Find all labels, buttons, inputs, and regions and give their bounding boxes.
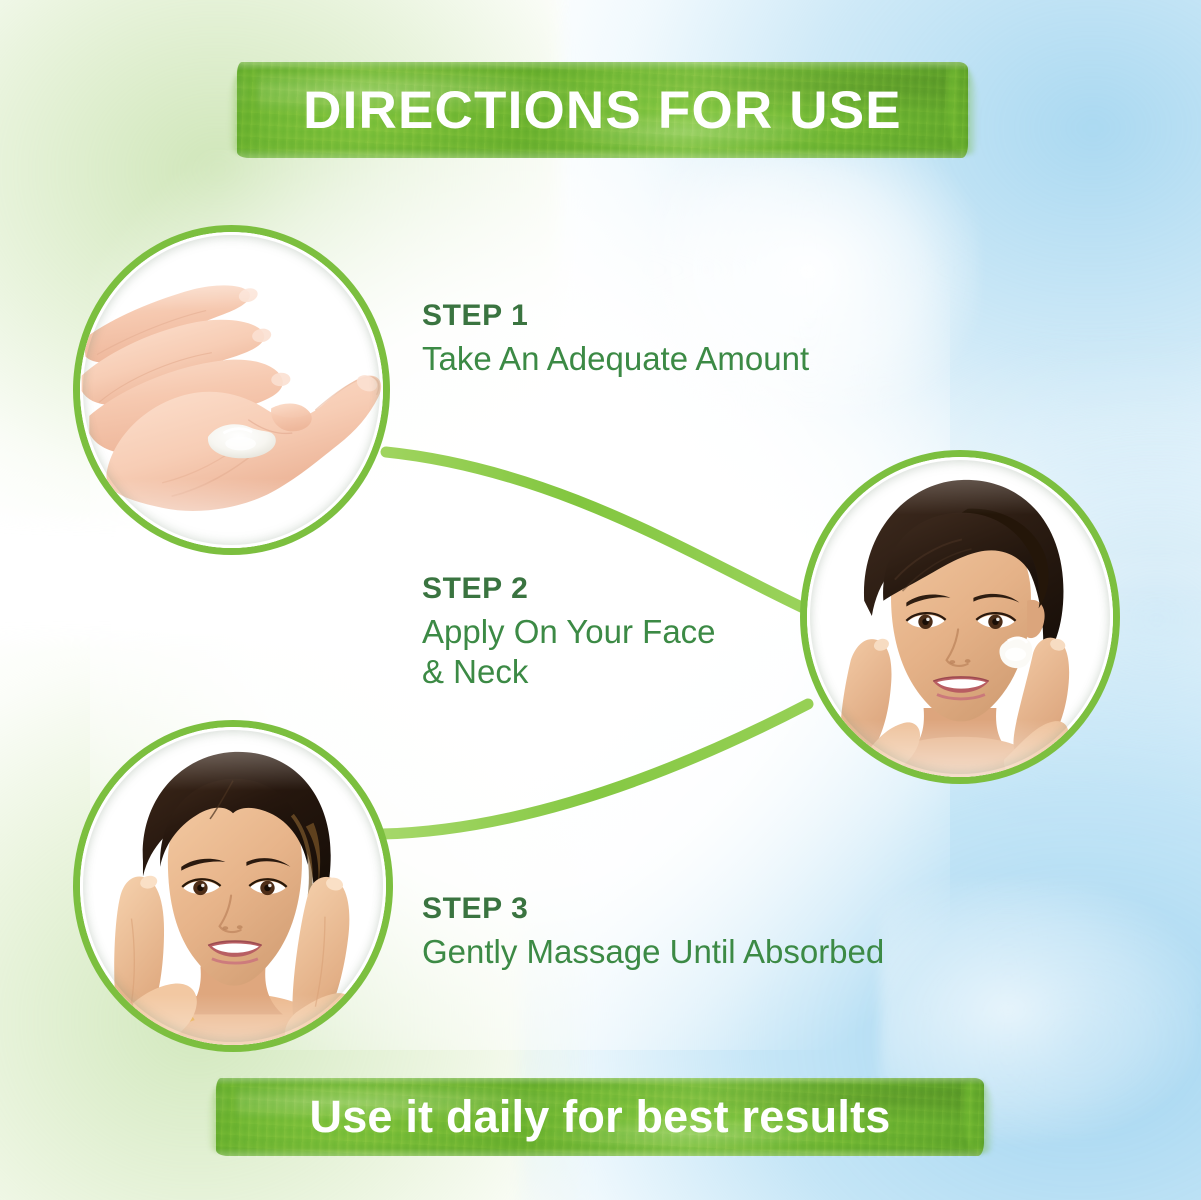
step-2-text-block: STEP 2 Apply On Your Face & Neck (422, 572, 716, 693)
connector-step2-to-step3 (382, 704, 808, 834)
step-1-text-block: STEP 1 Take An Adequate Amount (422, 299, 809, 379)
step-2-photo-circle (800, 450, 1120, 784)
step-3-text-block: STEP 3 Gently Massage Until Absorbed (422, 892, 884, 972)
directions-for-use-infographic: DIRECTIONS FOR USE (0, 0, 1201, 1200)
page-title: DIRECTIONS FOR USE (303, 80, 902, 141)
step-2-description: Apply On Your Face & Neck (422, 612, 716, 694)
step-3-description: Gently Massage Until Absorbed (422, 932, 884, 973)
step-1-photo-circle (73, 225, 390, 555)
footer-banner: Use it daily for best results (216, 1078, 984, 1156)
hand-with-cream-image (80, 232, 383, 548)
step-1-description: Take An Adequate Amount (422, 339, 809, 380)
woman-massaging-face-image (80, 727, 386, 1045)
woman-applying-cream-image (807, 457, 1113, 777)
step-1-kicker: STEP 1 (422, 299, 809, 334)
step-2-kicker: STEP 2 (422, 572, 716, 607)
title-banner: DIRECTIONS FOR USE (237, 62, 968, 158)
step-3-photo-circle (73, 720, 393, 1052)
footer-note: Use it daily for best results (310, 1091, 891, 1143)
step-3-kicker: STEP 3 (422, 892, 884, 927)
